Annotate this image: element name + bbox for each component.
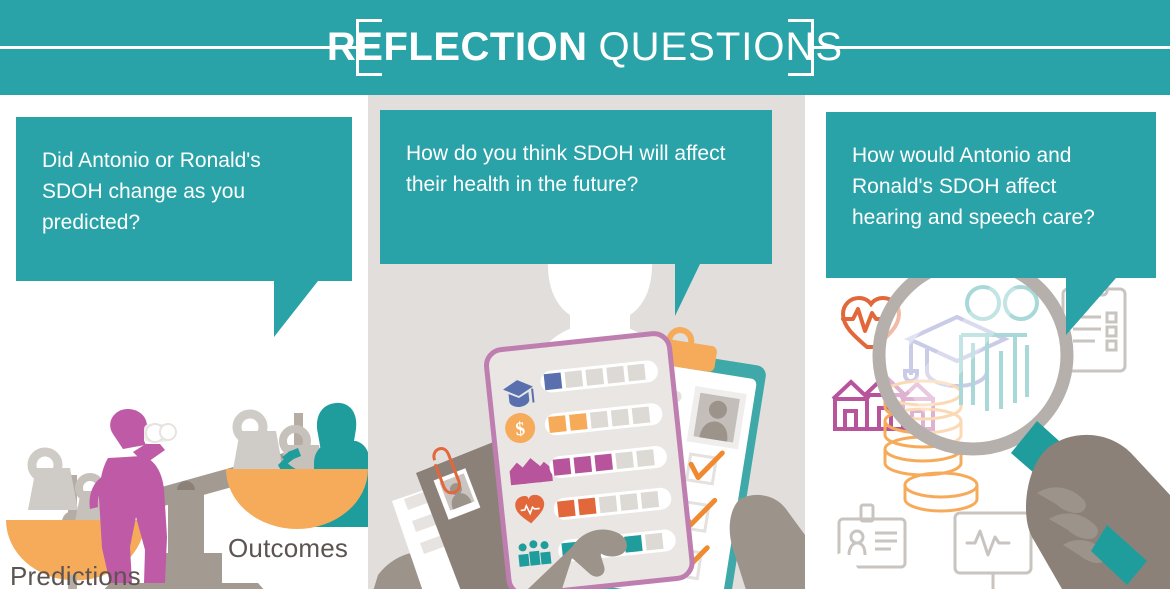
hand-holding-clipboard bbox=[730, 495, 805, 589]
binoculars-icon bbox=[144, 424, 176, 444]
page-title-light: QUESTIONS bbox=[598, 25, 843, 70]
panel-middle: $ bbox=[368, 95, 805, 589]
clipboard-photo bbox=[687, 386, 747, 449]
coat-corner bbox=[805, 551, 873, 589]
question-text-2: How do you think SDOH will affect their … bbox=[406, 142, 725, 196]
question-text-3: How would Antonio and Ronald's SDOH affe… bbox=[852, 144, 1095, 229]
pan-label-outcomes: Outcomes bbox=[228, 533, 348, 564]
reflection-questions-infographic: REFLECTION QUESTIONS bbox=[0, 0, 1170, 589]
question-bubble-3: How would Antonio and Ronald's SDOH affe… bbox=[826, 112, 1156, 278]
question-text-1: Did Antonio or Ronald's SDOH change as y… bbox=[42, 149, 261, 234]
pan-label-predictions: Predictions bbox=[10, 561, 141, 589]
question-bubble-1: Did Antonio or Ronald's SDOH change as y… bbox=[16, 117, 352, 281]
bubble-tail-2 bbox=[675, 264, 720, 316]
page-title-bold: REFLECTION bbox=[327, 25, 588, 70]
header-banner: REFLECTION QUESTIONS bbox=[0, 0, 1170, 95]
panel-left: Predictions Outcomes Did Antonio or Rona… bbox=[0, 95, 368, 589]
panel-right: How would Antonio and Ronald's SDOH affe… bbox=[805, 95, 1170, 589]
bubble-tail-3 bbox=[1066, 278, 1116, 335]
question-bubble-2: How do you think SDOH will affect their … bbox=[380, 110, 772, 264]
monitor-waveform-icon bbox=[955, 513, 1031, 589]
bubble-tail-1 bbox=[274, 281, 318, 337]
page-title: REFLECTION QUESTIONS bbox=[0, 0, 1170, 95]
hand-holding-magnifier bbox=[1026, 435, 1170, 589]
